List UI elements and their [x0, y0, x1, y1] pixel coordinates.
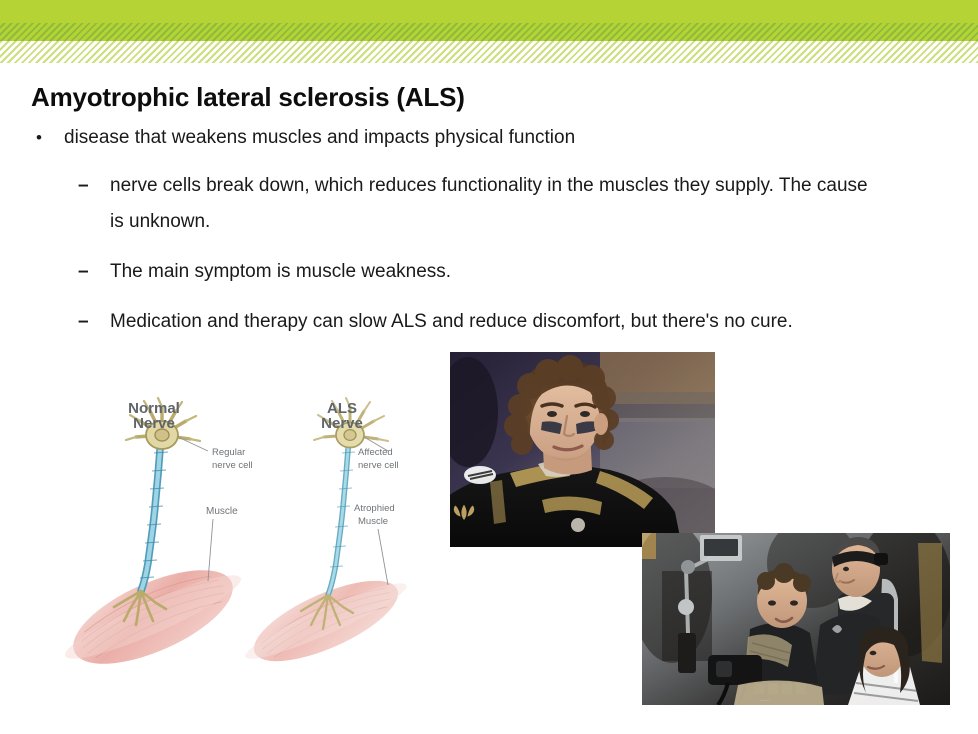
- bullet-level2: – The main symptom is muscle weakness.: [78, 254, 878, 290]
- bullet-level2-text: nerve cells break down, which reduces fu…: [110, 168, 878, 240]
- normal-vs-als-nerve-diagram: Normal Nerve Regular nerve cell Muscle: [58, 395, 426, 710]
- bullet-marker-dash: –: [78, 304, 89, 340]
- banner-light-stripe-band: [0, 41, 978, 63]
- label-regular-nerve-cell-2: nerve cell: [212, 460, 253, 471]
- bullet-level2: – nerve cells break down, which reduces …: [78, 168, 878, 240]
- photo-caption-watermark: —: [759, 694, 770, 705]
- bullet-sublist: – nerve cells break down, which reduces …: [78, 168, 878, 354]
- label-atrophied-muscle-2: Muscle: [358, 516, 388, 527]
- label-regular-nerve-cell-1: Regular: [212, 447, 245, 458]
- football-player-photo: [450, 352, 715, 547]
- slide-canvas: Amyotrophic lateral sclerosis (ALS) • di…: [0, 0, 978, 734]
- slide-header-banner: [0, 0, 978, 63]
- bullet-level2-text: The main symptom is muscle weakness.: [110, 254, 878, 290]
- bullet-level1: • disease that weakens muscles and impac…: [31, 124, 861, 152]
- label-atrophied-muscle-1: Atrophied: [354, 503, 395, 514]
- label-muscle: Muscle: [206, 506, 238, 517]
- bullet-marker-dash: –: [78, 254, 89, 290]
- bullet-level2-text: Medication and therapy can slow ALS and …: [110, 304, 878, 340]
- bullet-level1-text: disease that weakens muscles and impacts…: [64, 124, 861, 152]
- label-als-nerve-2: Nerve: [321, 415, 363, 432]
- bullet-marker-dot: •: [36, 124, 42, 152]
- wheelchair-family-photo: —: [642, 533, 950, 705]
- label-affected-nerve-cell-1: Affected: [358, 447, 393, 458]
- bullet-level2: – Medication and therapy can slow ALS an…: [78, 304, 878, 340]
- label-normal-nerve-2: Nerve: [133, 415, 175, 432]
- bullet-marker-dash: –: [78, 168, 89, 204]
- label-affected-nerve-cell-2: nerve cell: [358, 460, 399, 471]
- slide-title: Amyotrophic lateral sclerosis (ALS): [31, 82, 465, 113]
- banner-solid-band: [0, 0, 978, 23]
- banner-dark-stripe-band: [0, 23, 978, 41]
